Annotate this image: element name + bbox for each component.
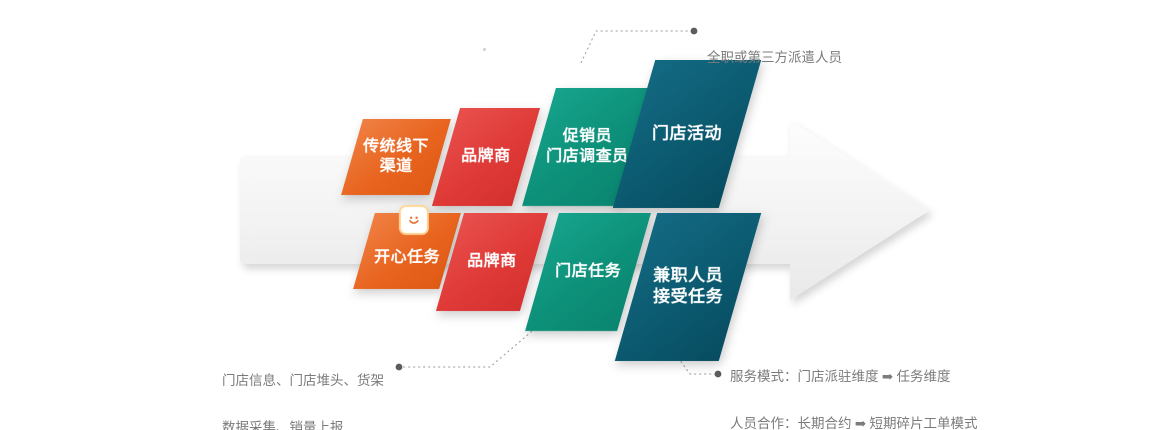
smiley-face-icon	[401, 207, 427, 233]
annotation-task-scope-line-2: 数据采集、销量上报	[222, 416, 384, 430]
step-parttime-accept-task-label: 兼职人员 接受任务	[653, 266, 723, 307]
step-store-task-label: 门店任务	[555, 262, 621, 282]
step-traditional-channel[interactable]: 传统线下 渠道	[341, 119, 451, 195]
connector-service-model-dot	[715, 371, 722, 378]
step-happy-task-label: 开心任务	[374, 234, 440, 268]
annotation-service-model: 服务模式：门店派驻维度 ➡ 任务维度 人员合作：长期合约 ➡ 短期碎片工单模式	[730, 341, 978, 430]
connector-task-scope-dot	[396, 364, 403, 371]
diagram-canvas: 传统线下 渠道 品牌商 促销员 门店调查员 门店活动 开心任务 品牌商 门店任务…	[0, 0, 1150, 430]
step-brand-owner-bottom-label: 品牌商	[467, 252, 517, 272]
annotation-task-scope: 门店信息、门店堆头、货架 数据采集、销量上报	[222, 345, 384, 430]
step-promoter-surveyor-label: 促销员 门店调查员	[546, 127, 629, 166]
connector-staffing	[581, 31, 694, 63]
step-brand-owner-top-label: 品牌商	[461, 147, 511, 167]
step-traditional-channel-label: 传统线下 渠道	[363, 137, 429, 176]
annotation-staffing-line-1: 全职或第三方派遣人员	[707, 46, 842, 70]
annotation-service-model-line-2: 人员合作：长期合约 ➡ 短期碎片工单模式	[730, 412, 978, 430]
annotation-task-scope-line-1: 门店信息、门店堆头、货架	[222, 369, 384, 393]
connector-staffing-dot	[691, 28, 698, 35]
step-store-activity-label: 门店活动	[652, 124, 722, 145]
decorative-speck	[483, 48, 486, 51]
annotation-service-model-line-1: 服务模式：门店派驻维度 ➡ 任务维度	[730, 365, 978, 389]
annotation-staffing: 全职或第三方派遣人员	[707, 22, 842, 93]
